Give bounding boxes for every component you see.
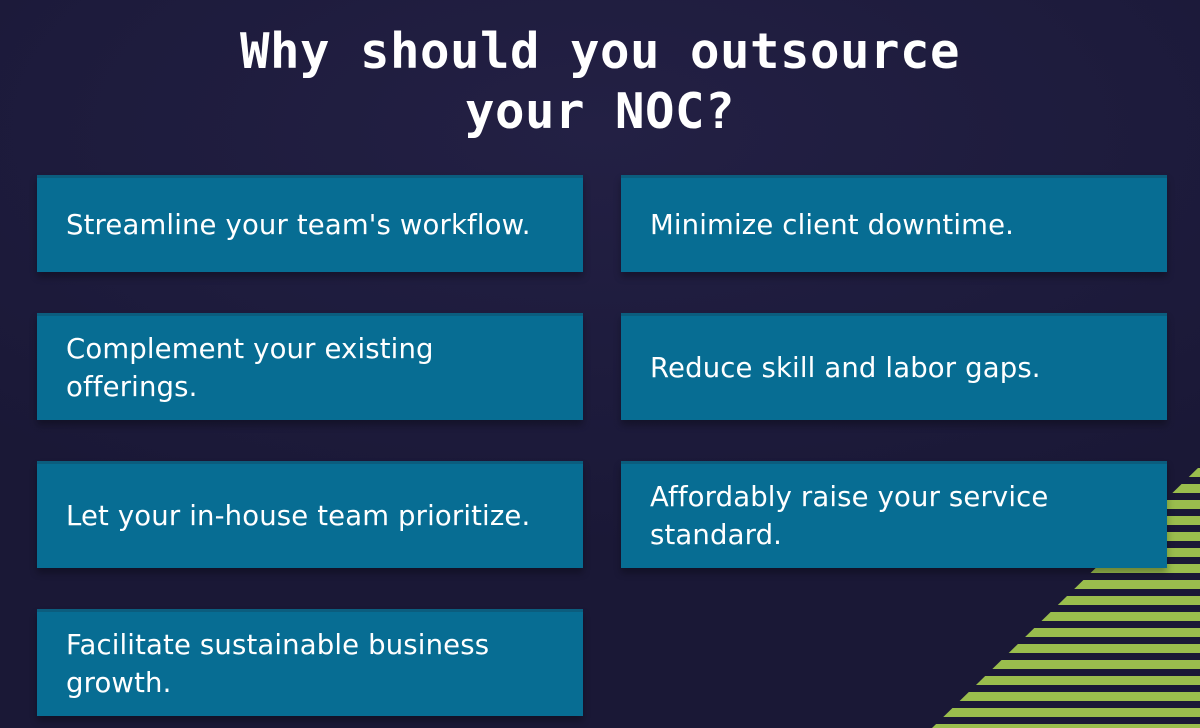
benefit-card-streamline-workflow: Streamline your team's workflow. (37, 175, 583, 272)
poster-canvas: Why should you outsource your NOC? Strea… (0, 0, 1200, 728)
benefit-card-sustainable-growth: Facilitate sustainable business growth. (37, 609, 583, 716)
page-title: Why should you outsource your NOC? (0, 22, 1200, 142)
benefit-card-grid: Streamline your team's workflow. Minimiz… (37, 175, 1166, 716)
benefit-card-label: Streamline your team's workflow. (66, 206, 531, 244)
benefit-card-label: Let your in-house team prioritize. (66, 497, 530, 535)
benefit-card-complement-offerings: Complement your existing offerings. (37, 313, 583, 420)
benefit-card-minimize-downtime: Minimize client downtime. (621, 175, 1167, 272)
benefit-card-raise-service-standard: Affordably raise your service standard. (621, 461, 1167, 568)
benefit-card-label: Minimize client downtime. (650, 206, 1014, 244)
benefit-card-label: Reduce skill and labor gaps. (650, 349, 1041, 387)
title-line-1: Why should you outsource (0, 22, 1200, 82)
benefit-card-reduce-skill-gaps: Reduce skill and labor gaps. (621, 313, 1167, 420)
title-line-2: your NOC? (0, 82, 1200, 142)
benefit-card-label: Complement your existing offerings. (66, 330, 536, 406)
benefit-card-label: Affordably raise your service standard. (650, 478, 1120, 554)
benefit-card-inhouse-prioritize: Let your in-house team prioritize. (37, 461, 583, 568)
benefit-card-label: Facilitate sustainable business growth. (66, 626, 536, 702)
